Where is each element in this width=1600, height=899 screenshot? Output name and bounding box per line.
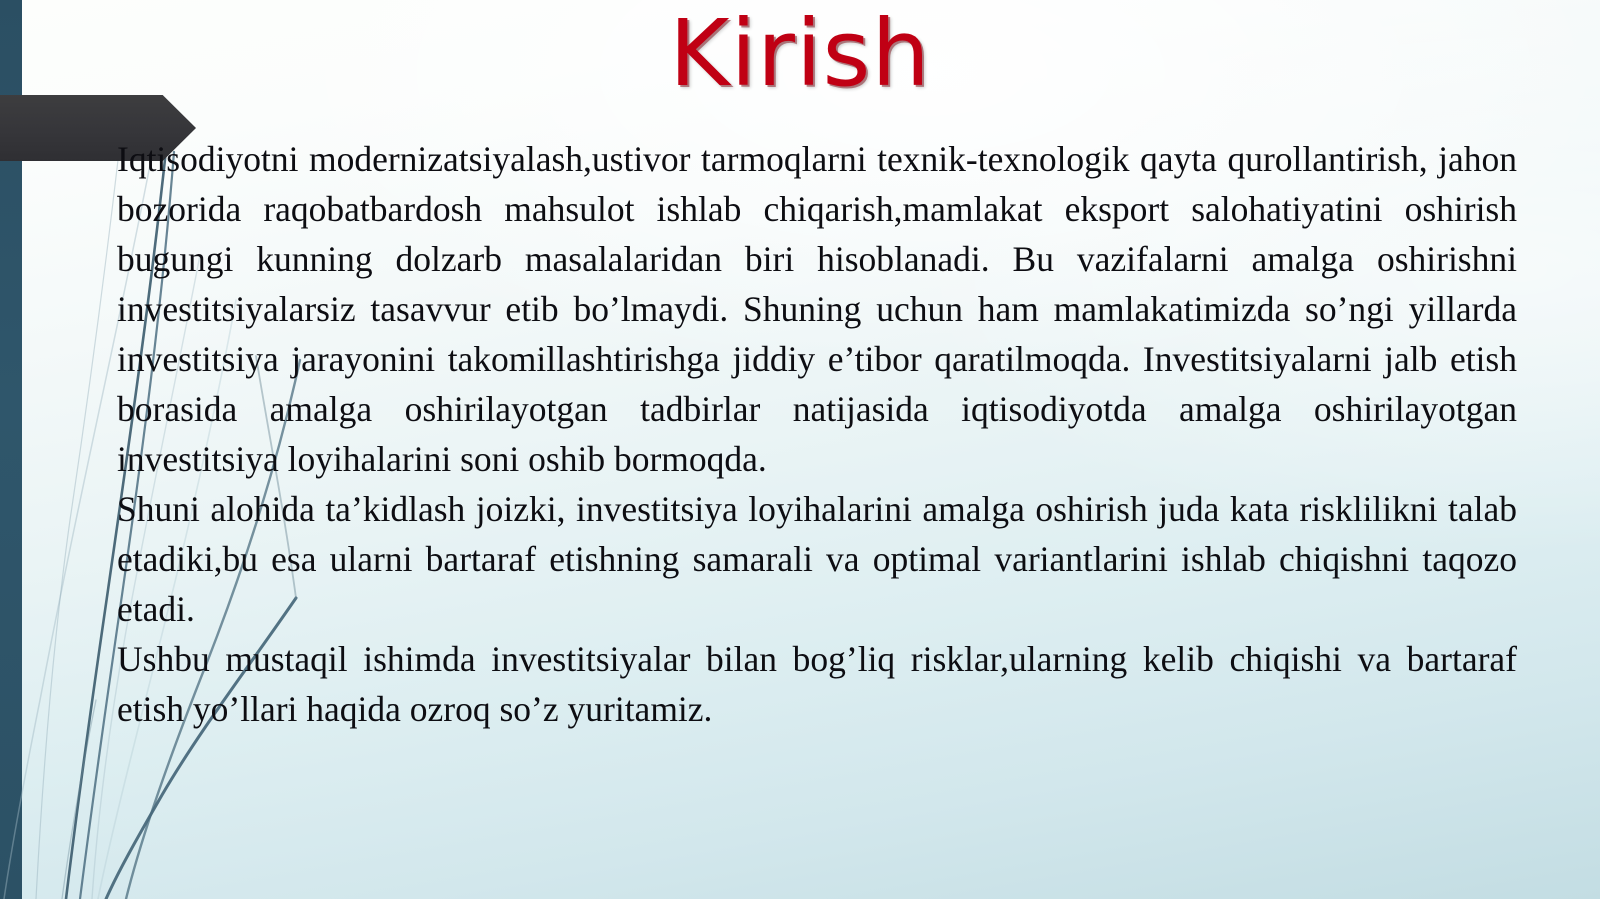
slide-body-text: Iqtisodiyotni modernizatsiyalash,ustivor… [117, 134, 1517, 734]
body-paragraph-1: Iqtisodiyotni modernizatsiyalash,ustivor… [117, 134, 1517, 484]
body-paragraph-2: Shuni alohida ta’kidlash joizki, investi… [117, 484, 1517, 634]
presentation-slide: Kirish Iqtisodiyotni modernizatsiyalash,… [0, 0, 1600, 899]
slide-title: Kirish [0, 8, 1600, 100]
body-paragraph-3: Ushbu mustaqil ishimda investitsiyalar b… [117, 634, 1517, 734]
